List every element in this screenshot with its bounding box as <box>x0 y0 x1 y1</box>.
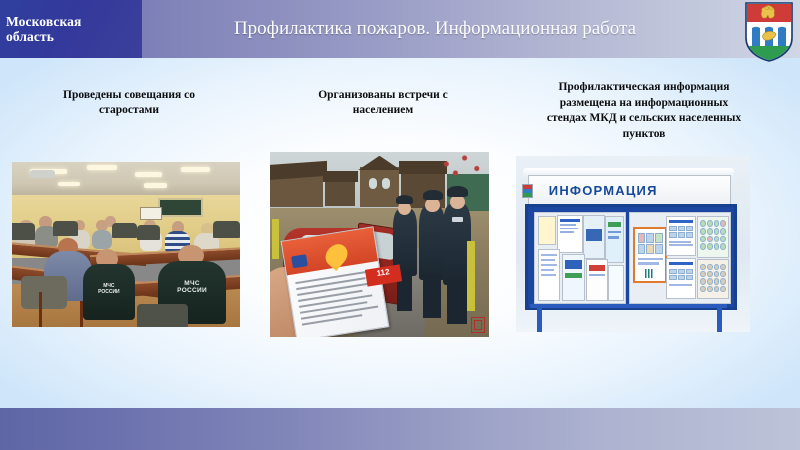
photo3-board-panel-right <box>629 212 731 304</box>
footer-bar <box>0 408 800 450</box>
region-label: Московская область <box>0 14 81 45</box>
photo2-house <box>360 167 399 208</box>
column-3-caption-line3: стендах МКД и сельских населенных <box>508 111 780 127</box>
photo1-ceiling-lamp <box>135 172 162 177</box>
photo1-chair-leg <box>39 292 42 327</box>
photo1-chair <box>137 225 160 240</box>
photo3-notice <box>608 265 624 301</box>
column-3-caption: Профилактическая информация размещена на… <box>508 80 780 142</box>
photo1-wall-board <box>158 198 203 217</box>
photo3-notice <box>586 259 608 301</box>
photo1-chair-leg <box>80 301 83 327</box>
photo2-house-window <box>369 178 378 189</box>
photo3-notice <box>605 216 624 263</box>
photo1-person-body <box>92 230 113 250</box>
column-1-caption-line1: Проведены совещания со <box>18 88 240 103</box>
photo3-board-title: ИНФОРМАЦИЯ <box>549 183 658 198</box>
photo2-officer <box>419 206 445 280</box>
photo3-poster-pictograms <box>697 259 729 299</box>
photo3-poster-pictograms <box>697 216 729 258</box>
photo3-notice <box>583 215 605 259</box>
photo-meeting-with-village-elders: МЧС РОССИИ МЧС РОССИИ <box>12 162 240 327</box>
photo1-chair <box>53 221 78 236</box>
column-1-caption: Проведены совещания со старостами <box>18 88 240 118</box>
coat-of-arms-icon <box>745 2 793 62</box>
photo2-house <box>325 180 356 206</box>
photo1-chair <box>112 223 137 238</box>
photo1-chair <box>213 221 240 238</box>
photo1-uniform-text: МЧС РОССИИ <box>165 281 220 295</box>
photo2-officer-paper <box>452 217 463 223</box>
photo2-tree-foliage <box>428 152 489 182</box>
column-1-caption-line2: старостами <box>18 103 240 118</box>
photo2-post <box>272 219 279 260</box>
photo1-chair <box>12 223 35 240</box>
photo1-ceiling-lamp <box>58 182 81 186</box>
photo3-board-frame <box>525 204 737 310</box>
column-3-caption-line4: пунктов <box>508 127 780 143</box>
photo1-mchs-officer: МЧС РОССИИ <box>83 264 135 320</box>
photo3-board-base <box>530 304 727 308</box>
column-3-caption-line2: размещена на информационных <box>508 96 780 112</box>
photo3-notice <box>557 215 583 253</box>
column-2-caption-line2: населением <box>272 103 494 118</box>
photo2-officer-cap <box>447 186 468 197</box>
photo3-notice <box>666 258 696 300</box>
photo2-house <box>270 174 323 207</box>
photo1-ceiling-lamp <box>144 183 167 187</box>
region-label-line1: Московская <box>6 14 81 30</box>
region-badge: Московская область <box>0 0 142 58</box>
column-2-caption: Организованы встречи с населением <box>272 88 494 118</box>
photo3-notice <box>562 254 586 301</box>
photo2-officer-cap <box>423 190 443 200</box>
photo2-house-window <box>382 178 391 189</box>
photo2-roof <box>323 171 358 182</box>
photo1-chair <box>21 276 67 309</box>
photo3-emblem-icon <box>522 184 533 198</box>
photo3-notice <box>666 216 696 256</box>
column-3-caption-line1: Профилактическая информация <box>508 80 780 96</box>
photo1-projector <box>30 170 55 177</box>
photo1-uniform-text: МЧС РОССИИ <box>90 284 128 295</box>
photo3-notice <box>538 249 560 302</box>
photo2-watermark-logo <box>471 317 485 333</box>
photo1-ceiling-lamp <box>181 167 211 172</box>
column-2-caption-line1: Организованы встречи с <box>272 88 494 103</box>
photo2-post <box>467 241 475 311</box>
slide: Московская область Профилактика пожаров.… <box>0 0 800 450</box>
photo3-poster-fire-safety <box>633 227 667 283</box>
photo2-officer-face <box>425 198 439 212</box>
photo2-officer-cap <box>396 195 414 204</box>
photo1-chair <box>137 304 187 327</box>
photo-information-stand: ИНФОРМАЦИЯ <box>516 156 750 332</box>
photo1-ceiling-lamp <box>87 165 117 170</box>
region-label-line2: область <box>6 29 81 45</box>
photo1-wall-frame <box>140 207 163 221</box>
photo3-board-panel-left <box>534 212 627 304</box>
photo2-officer-face <box>398 202 411 215</box>
slide-header: Московская область Профилактика пожаров.… <box>0 0 800 58</box>
page-title: Профилактика пожаров. Информационная раб… <box>150 0 720 58</box>
photo3-qr-code <box>645 269 654 278</box>
photo2-officer-legs <box>447 278 467 324</box>
photo-meeting-with-residents: 112 <box>270 152 489 337</box>
photo3-notice <box>538 216 556 245</box>
photo2-officer-legs <box>423 274 441 318</box>
photo3-board-header: ИНФОРМАЦИЯ <box>528 175 731 205</box>
